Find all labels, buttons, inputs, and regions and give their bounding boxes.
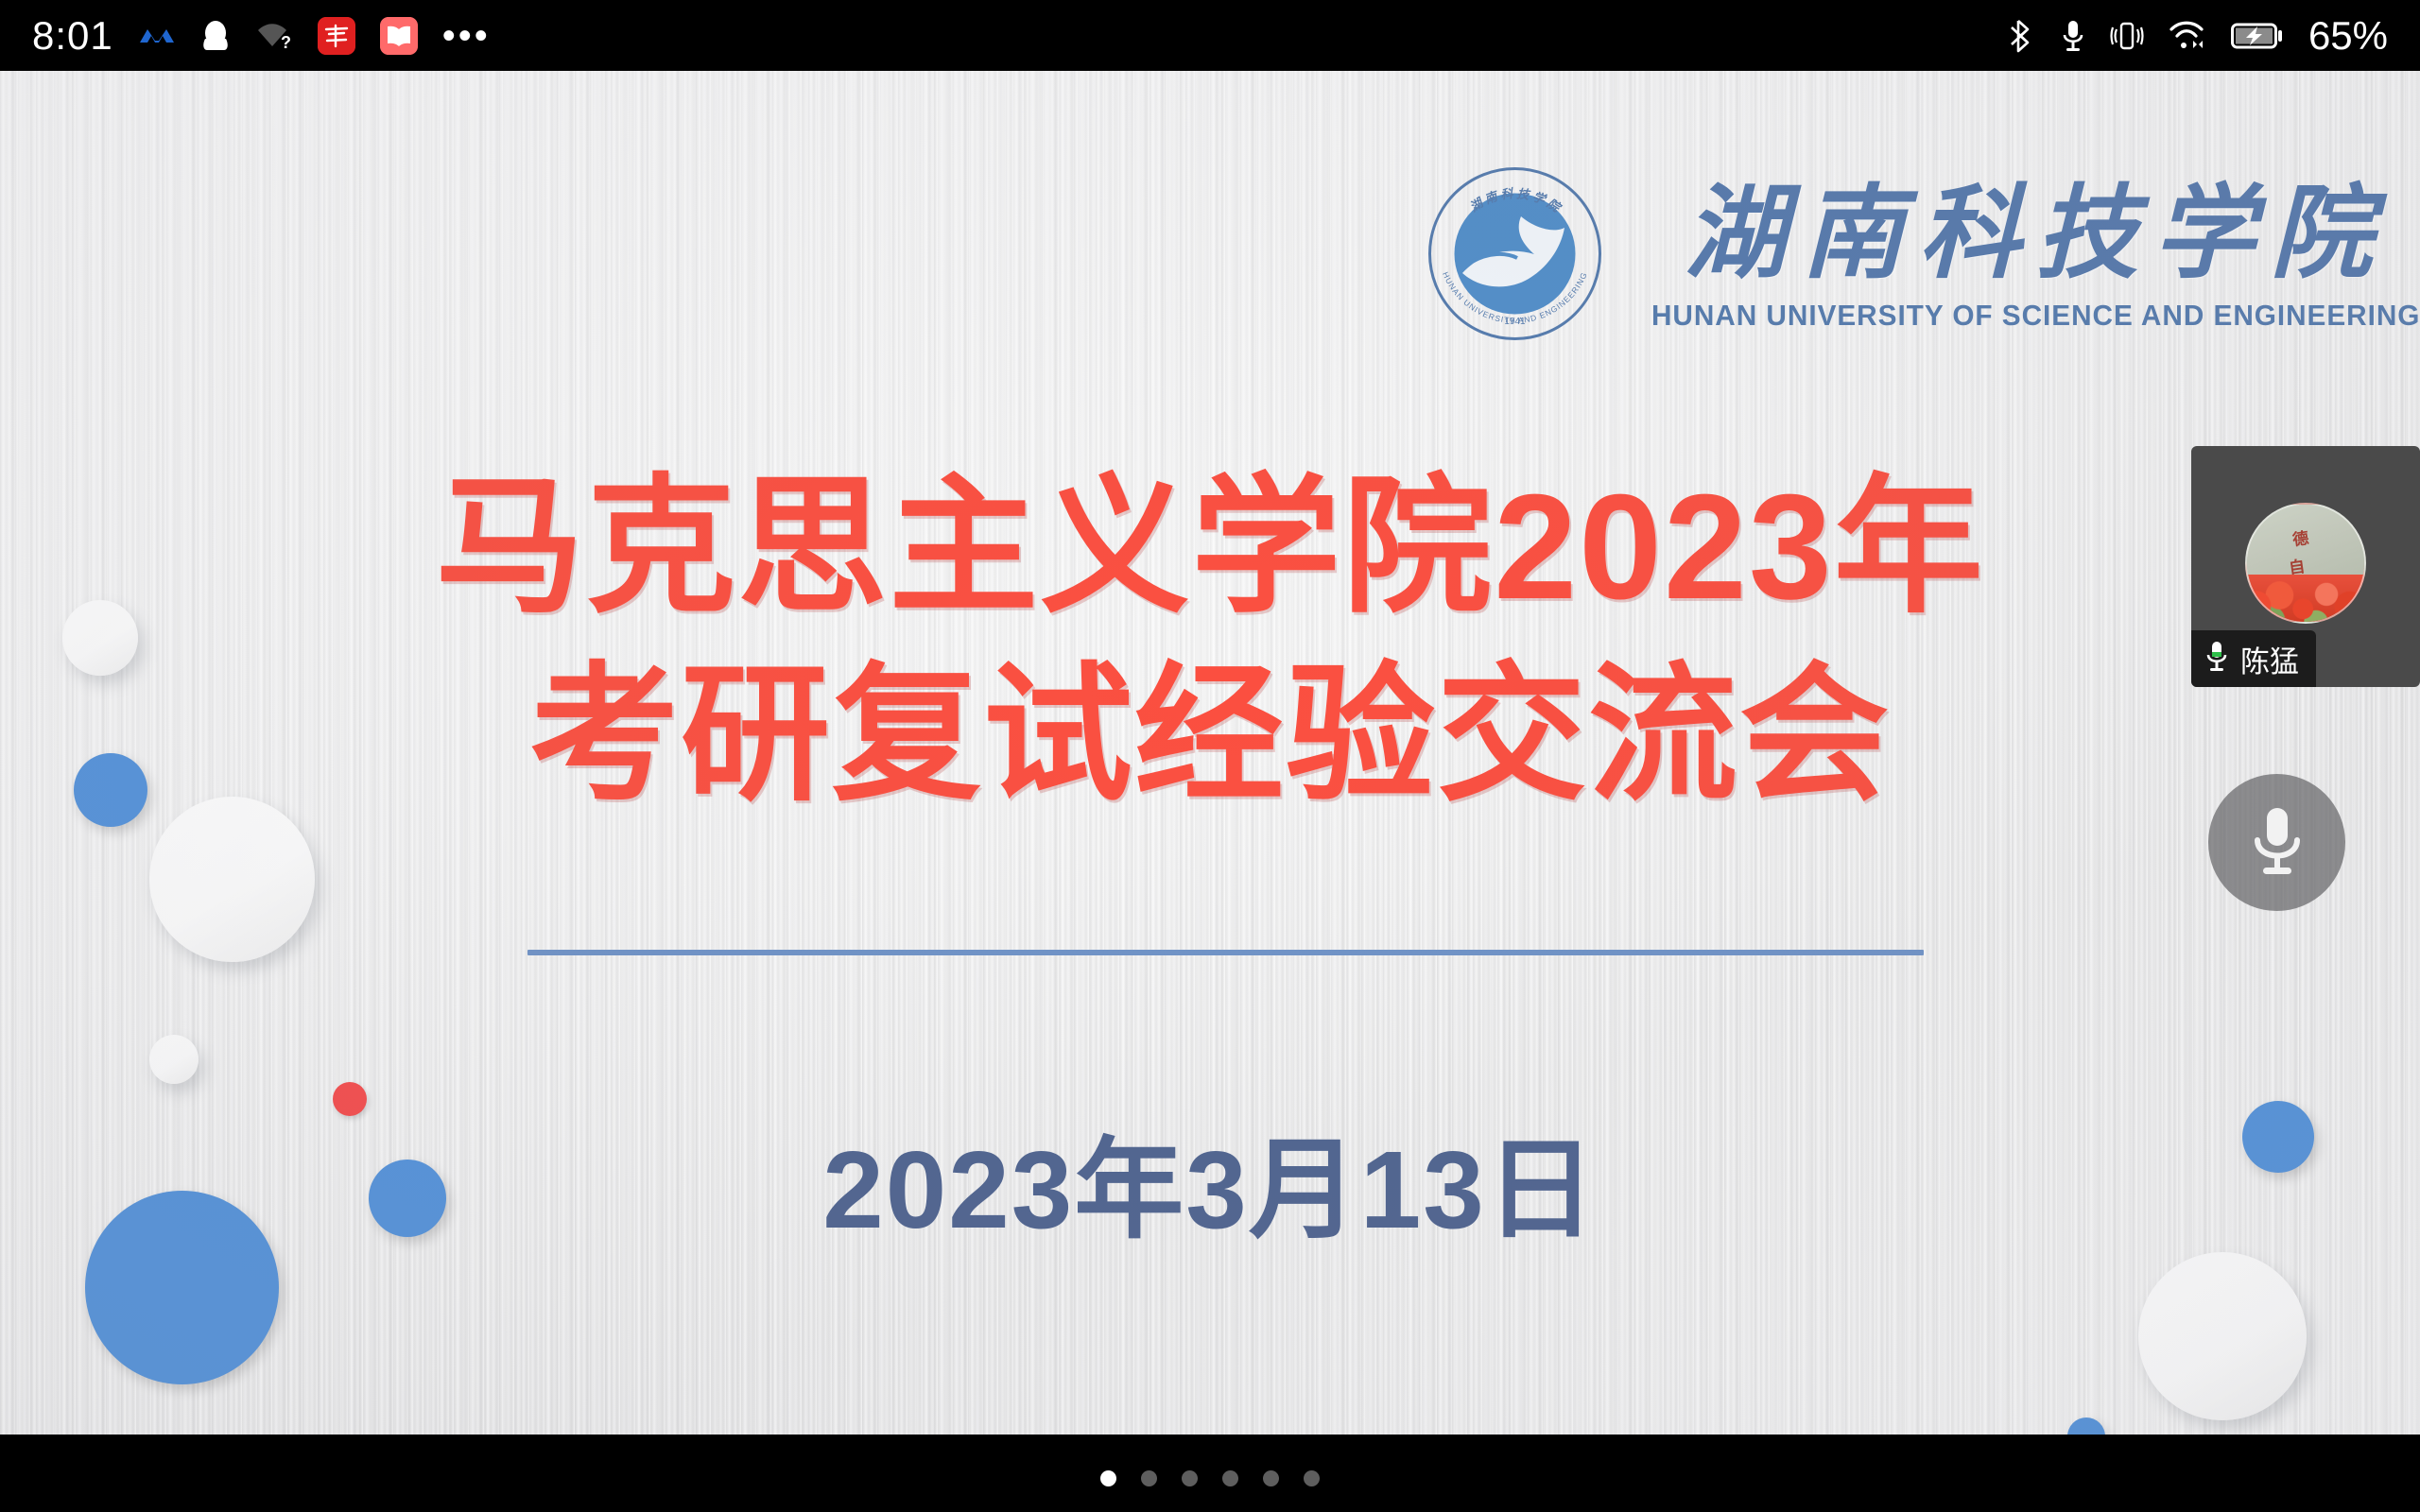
page-dot-5[interactable] (1263, 1470, 1279, 1486)
phone-screen: 8:01 ? ••• (0, 0, 2420, 1512)
xuexiqiangguo-icon (318, 17, 355, 55)
battery-percentage: 65% (2308, 16, 2388, 56)
title-divider (527, 950, 1924, 955)
slide-date: 2023年3月13日 (0, 1101, 2420, 1260)
status-bar-right: 65% (2010, 16, 2420, 56)
wifi-question-icon: ? (255, 20, 293, 52)
decor-circle-blue-5 (2067, 1417, 2105, 1435)
status-time: 8:01 (32, 16, 113, 56)
avatar-flowers (2245, 575, 2366, 624)
page-dot-3[interactable] (1182, 1470, 1198, 1486)
mic-toggle-button[interactable] (2208, 774, 2345, 911)
momo-icon (138, 22, 176, 50)
avatar-calligraphy-line1: 德 (2290, 524, 2309, 550)
battery-charging-icon (2231, 20, 2284, 52)
university-name-en: HUNAN UNIVERSITY OF SCIENCE AND ENGINEER… (1651, 299, 2420, 333)
participant-avatar: 德 自 (2245, 503, 2366, 624)
participant-name-bar: 陈猛 (2191, 630, 2316, 687)
slide-title: 马克思主义学院2023年 考研复试经验交流会 (0, 454, 2420, 830)
vibrate-icon (2110, 17, 2144, 55)
page-dot-1[interactable] (1100, 1470, 1116, 1486)
status-bar-left: 8:01 ? ••• (0, 16, 491, 56)
page-dot-4[interactable] (1222, 1470, 1238, 1486)
hunan-university-seal-icon: 湖 南 科 技 学 院 HUNAN UNIVERSITY AND ENGINEE… (1423, 162, 1607, 346)
qq-icon (200, 18, 231, 54)
microphone-icon (2248, 800, 2307, 885)
overflow-dots-icon: ••• (442, 28, 491, 43)
decor-circle-white-3 (149, 1035, 199, 1084)
slide-title-line2: 考研复试经验交流会 (0, 642, 2420, 830)
participant-video-thumbnail[interactable]: 德 自 陈猛 (2191, 446, 2420, 687)
participant-microphone-icon (2204, 639, 2229, 679)
microphone-status-icon (2061, 17, 2085, 55)
slide-title-line1: 马克思主义学院2023年 (0, 454, 2420, 642)
university-logo: 湖 南 科 技 学 院 HUNAN UNIVERSITY AND ENGINEE… (1423, 162, 2420, 346)
bluetooth-icon (2010, 17, 2036, 55)
status-bar: 8:01 ? ••• (0, 0, 2420, 71)
university-name-block: 湖南科技学院 HUNAN UNIVERSITY OF SCIENCE AND E… (1635, 175, 2420, 333)
wifi-icon (2169, 20, 2206, 52)
svg-text:1941: 1941 (1504, 317, 1526, 327)
university-name-cn: 湖南科技学院 (1685, 175, 2388, 295)
participant-name: 陈猛 (2240, 638, 2299, 680)
reader-book-icon (380, 17, 418, 55)
page-dot-2[interactable] (1141, 1470, 1157, 1486)
presentation-slide[interactable]: 湖 南 科 技 学 院 HUNAN UNIVERSITY AND ENGINEE… (0, 71, 2420, 1435)
svg-text:?: ? (281, 33, 291, 52)
decor-circle-white-4 (2138, 1252, 2307, 1420)
page-indicator[interactable] (0, 1470, 2420, 1486)
page-dot-6[interactable] (1304, 1470, 1320, 1486)
